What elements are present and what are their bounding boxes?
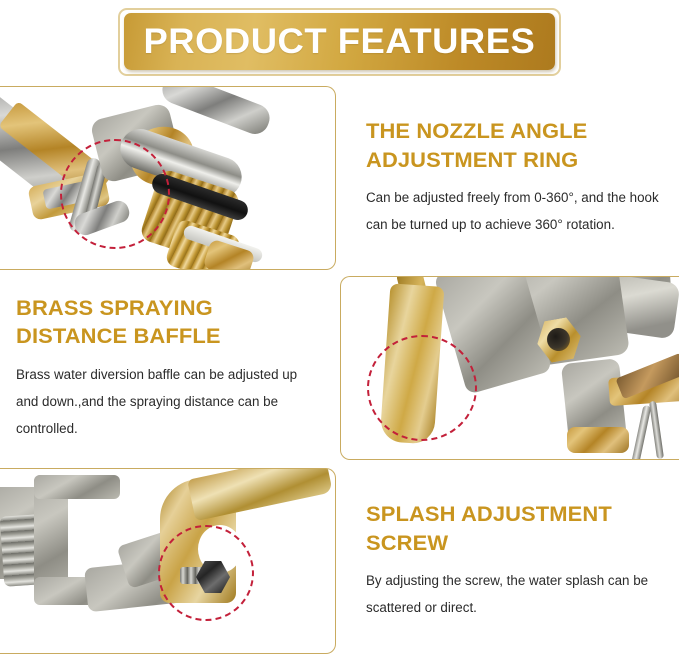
page-title: PRODUCT FEATURES bbox=[144, 24, 536, 59]
feature-body-splash-adjustment-screw: By adjusting the screw, the water splash… bbox=[366, 568, 661, 622]
feature-row-nozzle-angle-adjustment-ring: THE NOZZLE ANGLE ADJUSTMENT RING Can be … bbox=[0, 86, 679, 270]
feature-title-brass-spraying-distance-baffle: BRASS SPRAYING DISTANCE BAFFLE bbox=[16, 294, 320, 351]
feature-image-splash-adjustment-screw bbox=[0, 468, 336, 654]
header-banner: PRODUCT FEATURES bbox=[124, 13, 555, 70]
product-photo-brass-baffle bbox=[341, 277, 679, 459]
feature-row-splash-adjustment-screw: SPLASH ADJUSTMENT SCREW By adjusting the… bbox=[0, 468, 679, 654]
feature-row-brass-spraying-distance-baffle: BRASS SPRAYING DISTANCE BAFFLE Brass wat… bbox=[0, 276, 679, 460]
feature-text-nozzle-angle-adjustment-ring: THE NOZZLE ANGLE ADJUSTMENT RING Can be … bbox=[336, 86, 679, 270]
feature-body-brass-spraying-distance-baffle: Brass water diversion baffle can be adju… bbox=[16, 362, 314, 442]
feature-title-splash-adjustment-screw: SPLASH ADJUSTMENT SCREW bbox=[366, 500, 667, 557]
page-header: PRODUCT FEATURES bbox=[0, 0, 679, 86]
highlight-circle-icon bbox=[158, 525, 254, 621]
feature-image-brass-spraying-distance-baffle bbox=[340, 276, 679, 460]
brass-end-cap bbox=[202, 239, 255, 270]
product-photo-nozzle-ring bbox=[0, 87, 335, 269]
brass-collar bbox=[567, 427, 629, 453]
feature-image-nozzle-angle-adjustment-ring bbox=[0, 86, 336, 270]
deflector-lip bbox=[187, 468, 333, 521]
frame-top-bar bbox=[34, 475, 120, 499]
feature-text-splash-adjustment-screw: SPLASH ADJUSTMENT SCREW By adjusting the… bbox=[336, 468, 679, 654]
spring-wire bbox=[631, 405, 652, 460]
spring-wire-secondary bbox=[649, 401, 664, 459]
highlight-circle-icon bbox=[367, 335, 477, 441]
highlight-circle-icon bbox=[60, 139, 170, 249]
feature-text-brass-spraying-distance-baffle: BRASS SPRAYING DISTANCE BAFFLE Brass wat… bbox=[0, 276, 340, 460]
feature-body-nozzle-angle-adjustment-ring: Can be adjusted freely from 0-360°, and … bbox=[366, 185, 661, 239]
feature-title-nozzle-angle-adjustment-ring: THE NOZZLE ANGLE ADJUSTMENT RING bbox=[366, 117, 667, 174]
product-photo-splash-screw bbox=[0, 469, 335, 653]
